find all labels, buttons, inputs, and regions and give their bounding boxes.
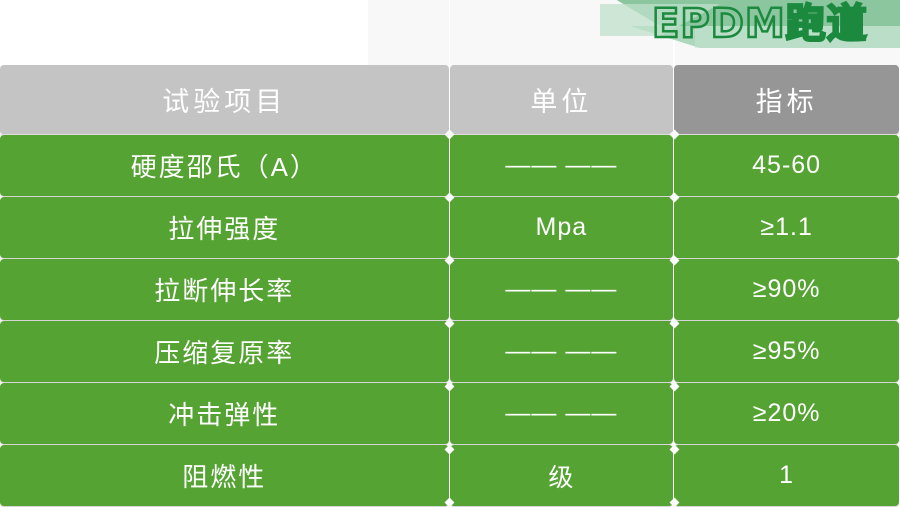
cell-unit: 级 <box>450 445 674 506</box>
cell-item: 压缩复原率 <box>0 321 449 382</box>
cell-index: ≥1.1 <box>674 197 899 258</box>
cell-unit: —— —— <box>450 259 674 320</box>
table-row: 拉伸强度 Mpa ≥1.1 <box>0 197 900 259</box>
cell-unit: —— —— <box>450 383 674 444</box>
table-header-row: 试验项目 单位 指标 <box>0 65 900 135</box>
table-row: 冲击弹性 —— —— ≥20% <box>0 383 900 445</box>
table-row: 硬度邵氏（A） —— —— 45-60 <box>0 135 900 197</box>
column-header-index: 指标 <box>674 65 899 134</box>
column-header-unit: 单位 <box>450 65 674 134</box>
cell-unit: —— —— <box>450 135 674 196</box>
watermark: EPDM跑道 <box>600 0 900 62</box>
cell-item: 拉断伸长率 <box>0 259 449 320</box>
spec-table: 试验项目 单位 指标 硬度邵氏（A） —— —— 45-60 拉伸强度 Mpa … <box>0 65 900 507</box>
spec-table-page: EPDM跑道 试验项目 单位 指标 硬度邵氏（A） —— —— 45-60 拉伸… <box>0 0 900 503</box>
table-row: 压缩复原率 —— —— ≥95% <box>0 321 900 383</box>
column-stub-left <box>368 0 449 66</box>
watermark-label: EPDM跑道 <box>652 0 868 49</box>
column-header-item: 试验项目 <box>0 65 449 134</box>
cell-item: 拉伸强度 <box>0 197 449 258</box>
cell-item: 冲击弹性 <box>0 383 449 444</box>
cell-index: 45-60 <box>674 135 899 196</box>
cell-item: 硬度邵氏（A） <box>0 135 449 196</box>
cell-index: ≥95% <box>674 321 899 382</box>
cell-index: ≥20% <box>674 383 899 444</box>
table-row: 拉断伸长率 —— —— ≥90% <box>0 259 900 321</box>
table-row: 阻燃性 级 1 <box>0 445 900 507</box>
cell-item: 阻燃性 <box>0 445 449 506</box>
cell-unit: Mpa <box>450 197 674 258</box>
cell-index: ≥90% <box>674 259 899 320</box>
cell-unit: —— —— <box>450 321 674 382</box>
cell-index: 1 <box>674 445 899 506</box>
